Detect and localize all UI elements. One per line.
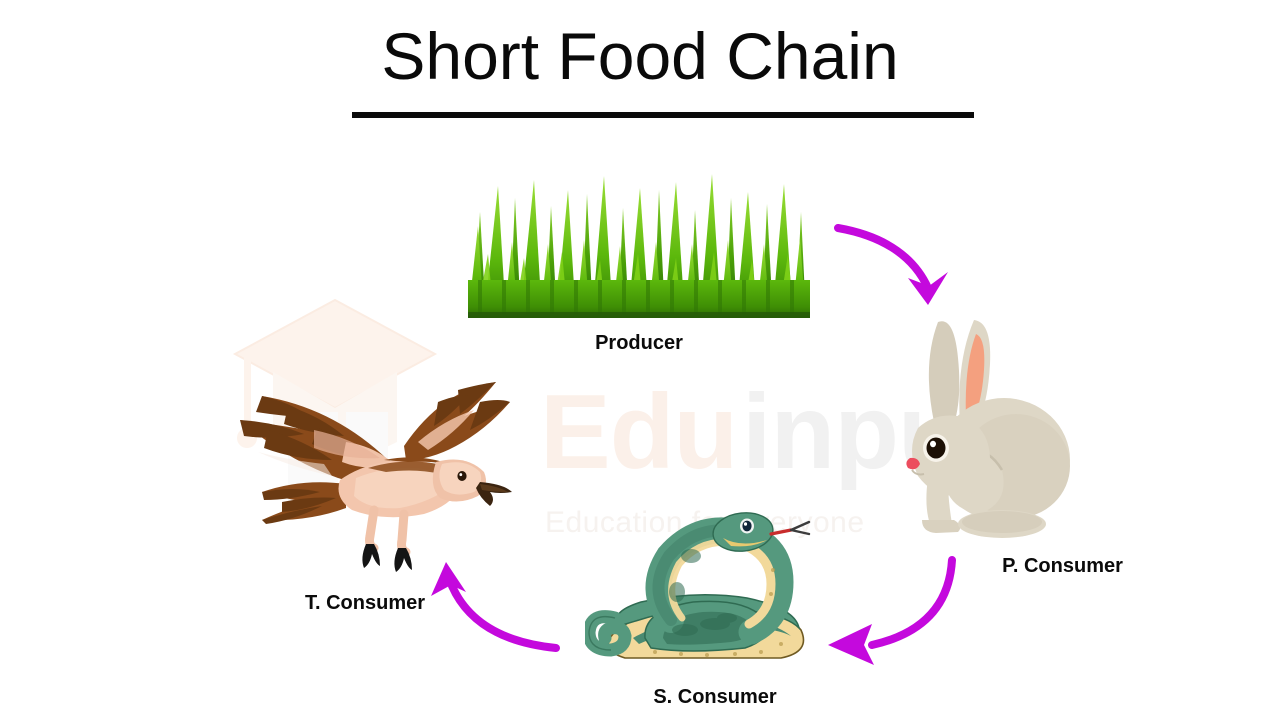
node-tertiary-consumer	[228, 368, 518, 573]
grass-icon	[468, 168, 810, 318]
snake-icon	[585, 498, 825, 668]
node-producer	[468, 168, 810, 318]
watermark-brand-primary: Edu	[540, 372, 737, 493]
label-primary-consumer: P. Consumer	[930, 555, 1195, 578]
label-tertiary-consumer: T. Consumer	[245, 592, 485, 615]
eagle-icon	[228, 368, 518, 573]
arrow-producer-to-p-consumer	[838, 228, 948, 305]
label-secondary-consumer: S. Consumer	[595, 686, 835, 709]
node-secondary-consumer	[585, 498, 825, 668]
label-producer: Producer	[468, 332, 810, 355]
rabbit-icon	[878, 300, 1078, 550]
page-title: Short Food Chain	[0, 22, 1280, 91]
page-title-underline	[352, 112, 974, 118]
node-primary-consumer	[878, 300, 1078, 550]
